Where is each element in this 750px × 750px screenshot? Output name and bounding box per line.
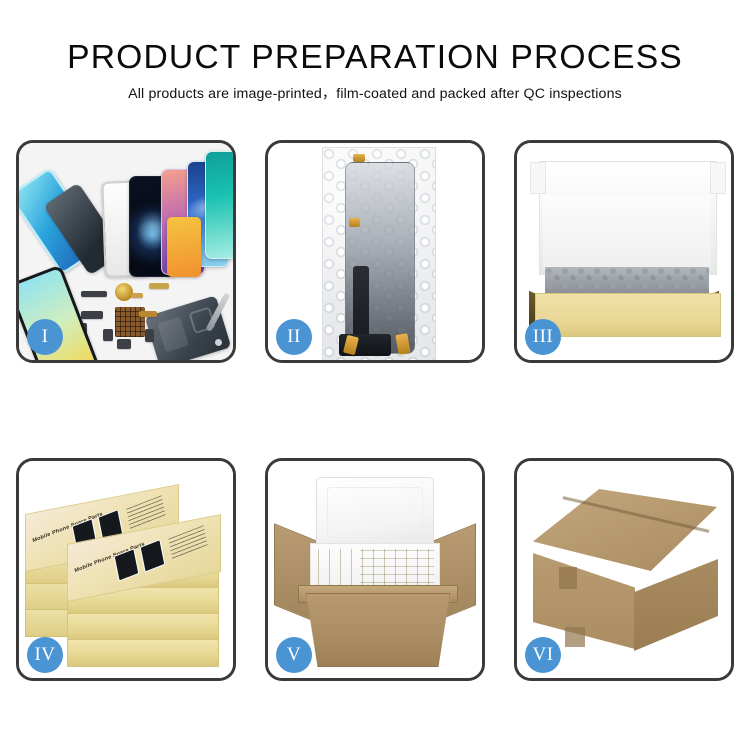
connector-strip-part <box>81 291 107 297</box>
carton-top-face <box>533 489 717 571</box>
process-step-panel-5: V <box>265 458 485 681</box>
step-badge-3: III <box>525 319 561 355</box>
step-badge-5: V <box>276 637 312 673</box>
page-subtitle: All products are image-printed，film-coat… <box>0 85 750 103</box>
white-foam-sheet <box>543 195 711 269</box>
carton-body <box>306 593 450 667</box>
page-title: PRODUCT PREPARATION PROCESS <box>0 38 750 76</box>
orange-phone-back <box>167 217 201 277</box>
flex-cable-part <box>81 311 103 319</box>
gold-flex-part <box>149 283 169 289</box>
process-step-panel-2: II <box>265 140 485 363</box>
camera-module-part <box>103 329 113 341</box>
step-badge-6: VI <box>525 637 561 673</box>
carton-side-face <box>634 559 718 651</box>
carton-tape-patch-lower <box>565 627 585 647</box>
process-step-grid: I II III <box>16 140 734 681</box>
carton-tape-patch-upper <box>559 567 577 589</box>
teal-gradient-phone <box>205 151 233 259</box>
screw-part <box>215 339 222 346</box>
sim-tray-part <box>145 329 154 342</box>
gold-tab-middle <box>349 218 360 227</box>
stacked-box-front-3 <box>67 613 219 641</box>
box-spec-lines-back <box>126 495 166 530</box>
box-stack: Mobile Phone Spare Parts Mobile Phone Sp… <box>25 487 231 663</box>
box-spec-lines-front <box>168 525 208 560</box>
process-step-panel-3: III <box>514 140 734 363</box>
step-badge-1: I <box>27 319 63 355</box>
grey-bubble-foam <box>545 267 709 295</box>
yellow-box-front <box>535 293 721 337</box>
small-flex-part <box>131 293 143 298</box>
process-step-panel-4: Mobile Phone Spare Parts Mobile Phone Sp… <box>16 458 236 681</box>
antenna-flex-part <box>139 311 157 317</box>
page-header: PRODUCT PREPARATION PROCESS All products… <box>0 0 750 103</box>
step-badge-2: II <box>276 319 312 355</box>
process-step-panel-1: I <box>16 140 236 363</box>
gold-coil-part <box>115 283 133 301</box>
bubble-wrap-bag <box>322 147 436 360</box>
process-step-panel-6: VI <box>514 458 734 681</box>
speaker-part <box>117 339 131 349</box>
gold-tab-top <box>353 154 365 162</box>
stacked-box-front-4 <box>67 639 219 667</box>
foam-cooler-lid <box>316 477 434 553</box>
step-badge-4: IV <box>27 637 63 673</box>
